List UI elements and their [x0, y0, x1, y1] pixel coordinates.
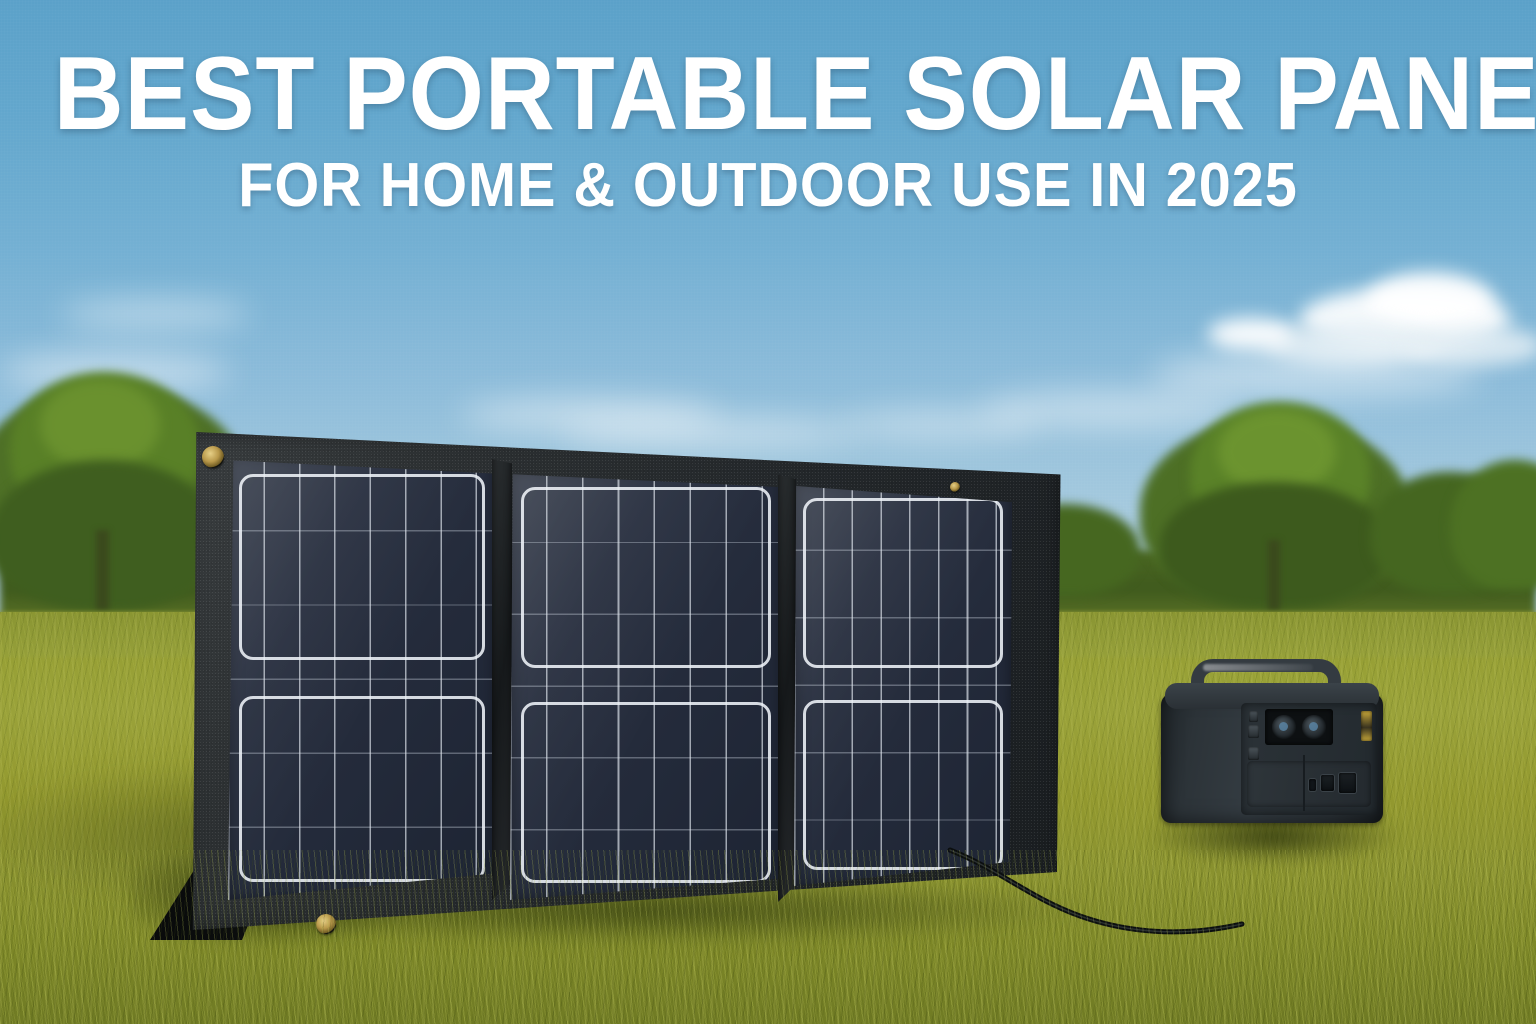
ac-button[interactable] [1248, 747, 1259, 760]
usb-panel [1247, 761, 1371, 807]
panel-hinge [492, 450, 512, 900]
cell-block-outline-upper [803, 498, 1004, 668]
tree-trunk [96, 530, 109, 610]
tree-trunk [1268, 540, 1280, 610]
ac-outlet-icon[interactable] [1302, 715, 1326, 739]
usb-c-port-icon[interactable] [1339, 773, 1356, 793]
handle-highlight [1203, 664, 1313, 671]
power-station-front-panel [1241, 703, 1377, 815]
grommet-icon [950, 482, 960, 492]
front-panel-seam [1303, 755, 1305, 811]
tree-icon [40, 380, 160, 470]
usb-port-icon[interactable] [1309, 779, 1316, 791]
usb-port-icon[interactable] [1321, 775, 1334, 791]
panel-hinge [778, 466, 796, 902]
foreground-grass [0, 850, 1536, 1024]
cell-block-outline-upper [521, 487, 771, 668]
panel-section-left [228, 456, 496, 900]
power-button[interactable] [1249, 711, 1258, 722]
grommet-icon [202, 446, 224, 468]
power-station[interactable] [1155, 655, 1390, 855]
dc-input-port[interactable] [1248, 725, 1259, 738]
dc-output-port[interactable] [1361, 711, 1372, 741]
panel-section-middle [510, 470, 782, 900]
ac-outlet-icon[interactable] [1272, 715, 1296, 739]
hero-banner: BEST PORTABLE SOLAR PANELS FOR HOME & OU… [0, 0, 1536, 1024]
ac-outlet-recess [1265, 709, 1333, 745]
cell-block-outline-upper [239, 474, 486, 660]
